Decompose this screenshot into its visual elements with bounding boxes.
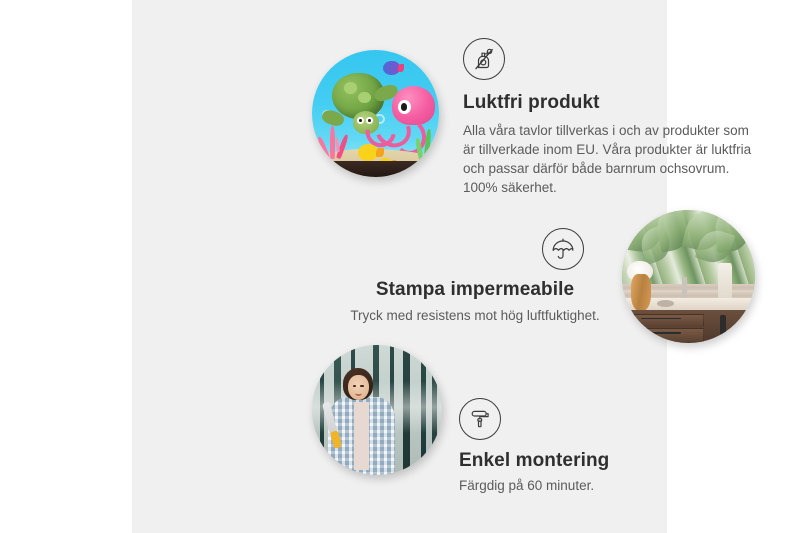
coral-branch [317, 136, 330, 160]
bathroom-botanical-wallpaper-photo[interactable] [622, 210, 755, 343]
screenshot-stage: Luktfri produkt Alla våra tavlor tillver… [0, 0, 800, 533]
woman-eye [360, 385, 363, 387]
yellow-fish-icon [358, 144, 378, 161]
feature-description: Färgdig på 60 minuter. [459, 476, 727, 495]
ocean-illustration [312, 50, 439, 177]
turtle-eye [357, 117, 364, 125]
woman-face [348, 375, 369, 400]
soap-dish [657, 300, 674, 307]
feature-title: Stampa impermeabile [344, 279, 606, 301]
underwater-cartoon-mural-photo[interactable] [312, 50, 439, 177]
feature-title: Luktfri produkt [463, 92, 758, 114]
mural-bottom-strip [312, 161, 439, 178]
vanity-drawer [627, 314, 703, 327]
bathroom-illustration [622, 210, 755, 343]
inner-shirt [354, 402, 370, 470]
feature-title: Enkel montering [459, 450, 727, 472]
decorator-forest-wallpaper-photo[interactable] [312, 345, 442, 475]
wood-vanity-cabinet [622, 310, 755, 343]
cabinet-handle [720, 315, 725, 335]
feature-description: Tryck med resistens mot hög luftfuktighe… [344, 306, 606, 325]
woman-eye [353, 385, 356, 387]
forest-illustration [312, 345, 442, 475]
paint-roller-icon [459, 398, 501, 440]
umbrella-icon [542, 228, 584, 270]
drawer-handle [641, 332, 681, 334]
woman-smile [355, 391, 362, 396]
blue-fish-icon [383, 61, 400, 75]
coral-branch [330, 126, 335, 160]
vanity-drawer [627, 328, 703, 341]
octopus-eye [398, 100, 411, 114]
coral-reef [318, 121, 356, 159]
feature-panel: Luktfri produkt Alla våra tavlor tillver… [132, 0, 667, 533]
feature-odourless: Luktfri produkt Alla våra tavlor tillver… [463, 38, 758, 197]
feature-description: Alla våra tavlor tillverkas i och av pro… [463, 121, 758, 197]
feature-waterproof: Stampa impermeabile Tryck med resistens … [344, 228, 606, 325]
feature-assembly: Enkel montering Färgdig på 60 minuter. [459, 398, 727, 495]
gold-vase [631, 274, 651, 311]
no-fragrance-spray-icon [463, 38, 505, 80]
